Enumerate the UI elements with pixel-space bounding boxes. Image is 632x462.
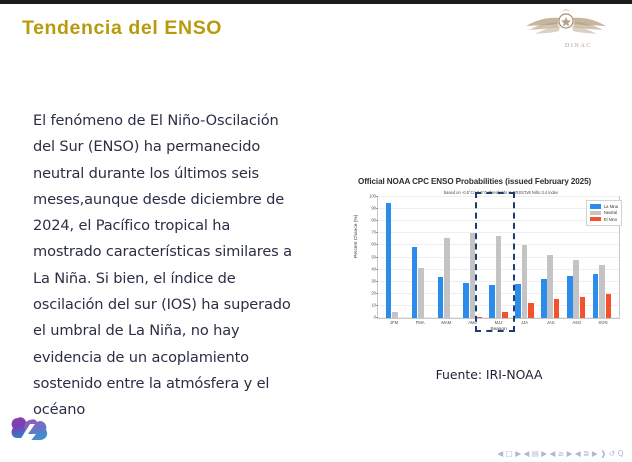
x-tick-label: JJA bbox=[512, 320, 538, 325]
storm-cloud-lightning-logo bbox=[8, 410, 54, 456]
nav-symbol[interactable]: ◀ bbox=[575, 449, 581, 458]
bar-la-nina-jja bbox=[515, 284, 521, 318]
beamer-navigation-bar[interactable]: ◀□▶◀▤▶◀≥▶◀⋑▶❱↺Q bbox=[497, 449, 624, 458]
x-tick-label: JAS bbox=[538, 320, 564, 325]
bar-la-nina-jas bbox=[541, 279, 547, 318]
bar-neutral-jja bbox=[522, 245, 528, 318]
x-axis-label: Season bbox=[377, 327, 620, 332]
bar-la-nina-fma bbox=[412, 247, 418, 318]
x-tick-label: FMA bbox=[407, 320, 433, 325]
x-tick-label: MJJ bbox=[485, 320, 511, 325]
season-group bbox=[486, 197, 512, 318]
nav-symbol[interactable]: ❱ bbox=[600, 449, 607, 458]
bar-el-nino-jas bbox=[554, 299, 560, 318]
nav-symbol[interactable]: ▶ bbox=[567, 449, 573, 458]
season-group bbox=[537, 197, 563, 318]
legend-label: La Nina bbox=[604, 204, 618, 209]
legend-label: Neutral bbox=[604, 210, 617, 215]
bar-el-nino-amj bbox=[476, 317, 482, 318]
legend-swatch bbox=[590, 217, 601, 221]
chart-legend: La NinaNeutralEl Nino bbox=[586, 200, 622, 226]
season-group bbox=[511, 197, 537, 318]
nav-symbol[interactable]: ▶ bbox=[541, 449, 547, 458]
nav-symbol[interactable]: □ bbox=[506, 449, 514, 458]
season-group bbox=[408, 197, 434, 318]
season-group bbox=[563, 197, 589, 318]
page-title: Tendencia del ENSO bbox=[22, 17, 222, 40]
bar-el-nino-son bbox=[606, 294, 612, 318]
legend-label: El Nino bbox=[604, 217, 617, 222]
chart-subtitle: based on -0.5°C/+0.5°C thresholds in ERS… bbox=[386, 190, 616, 195]
nav-symbol[interactable]: ▶ bbox=[515, 449, 521, 458]
season-group bbox=[460, 197, 486, 318]
bar-neutral-mjj bbox=[496, 236, 502, 318]
y-tick-label: 100 bbox=[369, 194, 376, 199]
nav-symbol[interactable]: ◀ bbox=[550, 449, 556, 458]
nav-symbol[interactable]: ⋑ bbox=[583, 449, 590, 458]
slide-body-text: El fenómeno de El Niño-Oscilación del Su… bbox=[33, 108, 301, 424]
bar-el-nino-mjj bbox=[502, 312, 508, 318]
enso-probability-chart: Official NOAA CPC ENSO Probabilities (is… bbox=[352, 176, 626, 348]
bar-neutral-jas bbox=[547, 255, 553, 318]
plot-area: 0102030405060708090100 bbox=[377, 196, 620, 319]
x-tick-label: ASO bbox=[564, 320, 590, 325]
bar-la-nina-son bbox=[593, 274, 599, 318]
nav-symbol[interactable]: ≥ bbox=[558, 449, 565, 458]
season-group bbox=[434, 197, 460, 318]
season-group bbox=[382, 197, 408, 318]
bar-el-nino-jja bbox=[528, 303, 534, 318]
bar-groups bbox=[378, 197, 619, 318]
nav-symbol[interactable]: ◀ bbox=[523, 449, 529, 458]
x-axis-ticks: JFMFMAMAMAMJMJJJJAJASASOSON bbox=[377, 320, 620, 325]
presentation-slide: Tendencia del ENSO DINAC El fenómeno de … bbox=[0, 0, 632, 462]
bar-neutral-mam bbox=[444, 238, 450, 318]
brand-caption: DINAC bbox=[565, 43, 592, 49]
bar-neutral-aso bbox=[573, 260, 579, 318]
top-rule bbox=[0, 0, 632, 4]
bar-la-nina-aso bbox=[567, 276, 573, 318]
legend-item: Neutral bbox=[590, 210, 618, 215]
bar-la-nina-amj bbox=[463, 283, 469, 318]
bar-neutral-son bbox=[599, 265, 605, 318]
chart-source-caption: Fuente: IRI-NOAA bbox=[352, 367, 626, 382]
bar-neutral-amj bbox=[470, 233, 476, 318]
x-tick-label: SON bbox=[590, 320, 616, 325]
nav-symbol[interactable]: ↺ bbox=[609, 449, 616, 458]
x-tick-label: JFM bbox=[381, 320, 407, 325]
bar-neutral-fma bbox=[418, 268, 424, 318]
bar-la-nina-mjj bbox=[489, 285, 495, 318]
chart-title: Official NOAA CPC ENSO Probabilities (is… bbox=[358, 177, 626, 186]
nav-symbol[interactable]: Q bbox=[618, 449, 624, 458]
y-axis-label: Percent Chance (%) bbox=[354, 215, 359, 258]
legend-item: El Nino bbox=[590, 217, 618, 222]
legend-swatch bbox=[590, 204, 601, 208]
bar-la-nina-mam bbox=[438, 277, 444, 318]
x-tick-label: AMJ bbox=[459, 320, 485, 325]
nav-symbol[interactable]: ▶ bbox=[592, 449, 598, 458]
bar-el-nino-aso bbox=[580, 297, 586, 318]
x-tick-label: MAM bbox=[433, 320, 459, 325]
legend-swatch bbox=[590, 211, 601, 215]
bar-la-nina-jfm bbox=[386, 203, 392, 318]
legend-item: La Nina bbox=[590, 204, 618, 209]
nav-symbol[interactable]: ◀ bbox=[497, 449, 503, 458]
bar-neutral-jfm bbox=[392, 312, 398, 318]
nav-symbol[interactable]: ▤ bbox=[532, 449, 540, 458]
